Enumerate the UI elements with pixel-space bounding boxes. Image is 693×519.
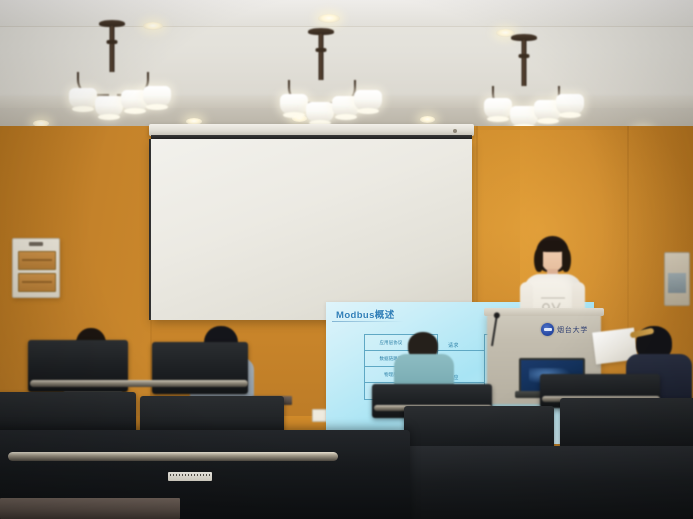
chandelier-shade xyxy=(306,102,334,124)
projection-screen: Modbus概述 烟台大学 应用层协议 数据链路层 物理层 传输介质层 主机接口… xyxy=(151,139,472,320)
chandelier-shade xyxy=(69,88,97,110)
panel-slot xyxy=(18,251,56,270)
valance-knob-icon xyxy=(453,129,457,133)
chandelier-rod xyxy=(522,40,527,86)
lecture-hall-seat[interactable] xyxy=(398,446,693,519)
chandelier-rod xyxy=(319,34,324,80)
recessed-ceiling-light xyxy=(318,14,340,23)
university-crest: 烟台大学 xyxy=(541,323,588,336)
crest-icon xyxy=(541,323,554,336)
chandelier-center xyxy=(266,28,376,138)
presenter-hair-side xyxy=(534,248,543,272)
slide-title-underline xyxy=(332,321,404,322)
presenter-hair-side xyxy=(562,248,571,272)
panel-label-tag xyxy=(29,242,43,246)
crest-text: 烟台大学 xyxy=(557,325,588,335)
chandelier-shade xyxy=(556,94,584,116)
recessed-ceiling-light xyxy=(420,116,435,123)
chandelier-shade xyxy=(143,86,171,108)
wall-outlet[interactable] xyxy=(312,409,327,422)
lecture-hall-photo: Modbus概述 烟台大学 应用层协议 数据链路层 物理层 传输介质层 主机接口… xyxy=(0,0,693,519)
wall-mounted-unit xyxy=(664,252,690,306)
slide-title: Modbus概述 xyxy=(336,307,395,321)
chandelier-shade xyxy=(95,96,123,118)
chandelier-rod xyxy=(110,26,115,72)
panel-slot xyxy=(18,273,56,292)
chandelier-shade xyxy=(354,90,382,112)
chandelier-shade xyxy=(484,98,512,120)
wall-control-panel[interactable] xyxy=(12,238,60,298)
podium-top-surface xyxy=(484,308,604,316)
chrome-seat-rail xyxy=(8,452,338,461)
chandelier-left xyxy=(57,20,167,130)
fold-down-desk[interactable] xyxy=(0,498,180,519)
chrome-seat-rail xyxy=(30,380,248,387)
asset-tag-sticker xyxy=(168,472,212,481)
chandelier-shade xyxy=(280,94,308,116)
